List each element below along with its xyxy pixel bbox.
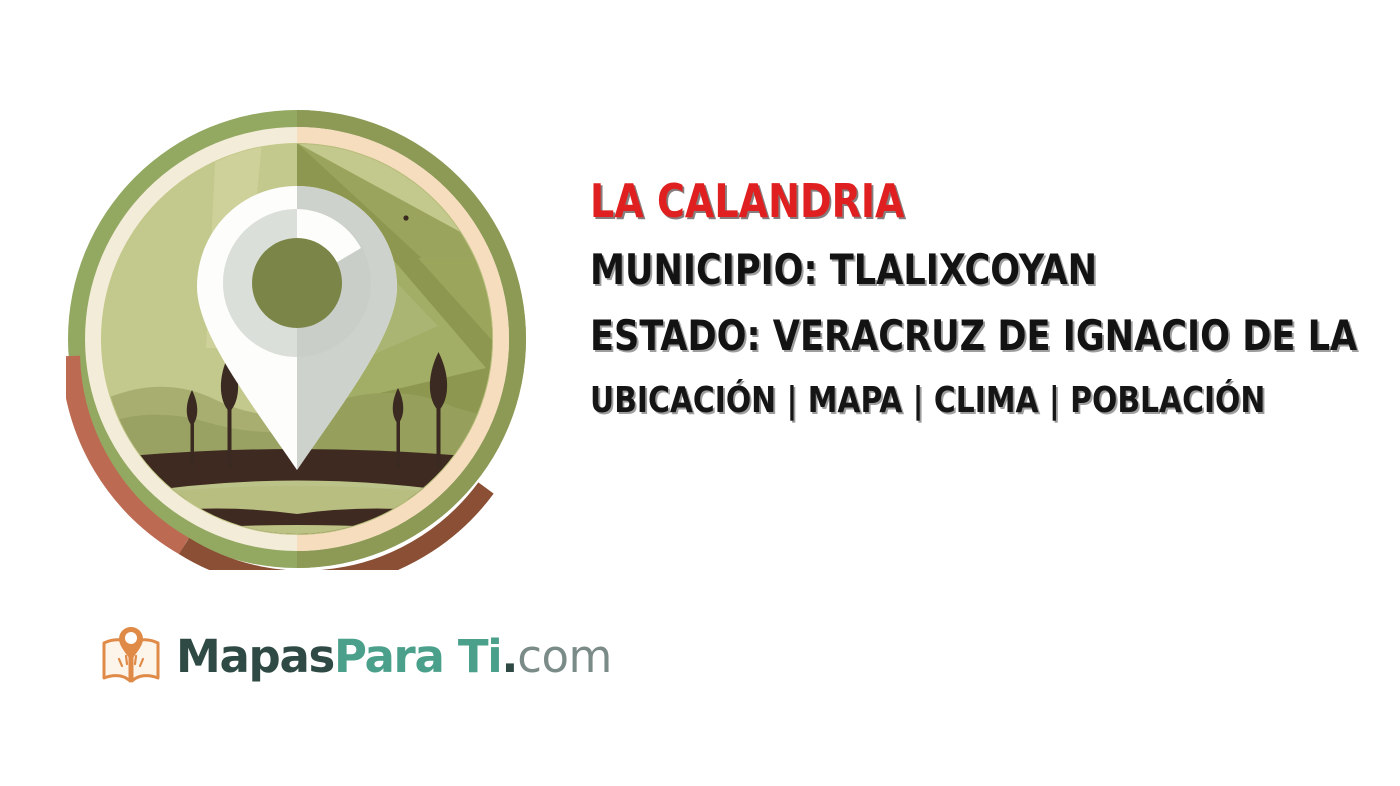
section-links[interactable]: UBICACIÓN | MAPA | CLIMA | POBLACIÓN [590,383,1337,419]
page-title: LA CALANDRIA [590,178,1337,224]
brand-word-dot: . [501,630,517,683]
open-book-with-map-pin-icon [100,623,162,689]
bird-dot [403,215,408,220]
brand-wordmark: MapasPara Ti.com [176,634,612,679]
brand-word-mapas: Mapas [176,630,334,683]
emblem-panel: MapasPara Ti.com [0,0,570,786]
estado-label: ESTADO: VERACRUZ DE IGNACIO DE LA [590,315,1345,357]
place-info-panel: LA CALANDRIA MUNICIPIO: TLALIXCOYAN ESTA… [590,178,1400,419]
rural-landscape-map-pin-emblem [66,108,528,570]
brand-word-com: com [517,630,612,683]
municipio-label: MUNICIPIO: TLALIXCOYAN [590,249,1345,291]
brand-logo[interactable]: MapasPara Ti.com [100,618,612,694]
brand-word-parati: Para Ti [334,630,501,683]
